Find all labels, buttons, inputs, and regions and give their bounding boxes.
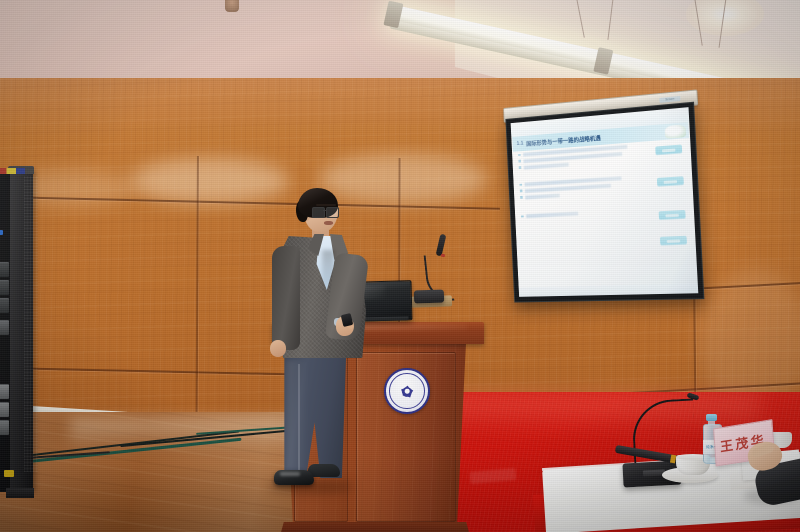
projection-screen[interactable]: Screen 1.1 国际形势与一带一路的战略机遇 xyxy=(503,90,708,309)
rack-unit xyxy=(0,402,9,417)
slide-bullet-group xyxy=(522,234,635,239)
slide-bullet-group xyxy=(519,176,633,203)
trousers-highlight xyxy=(286,360,308,470)
slide-action-pill[interactable] xyxy=(657,176,684,187)
av-equipment-rack[interactable] xyxy=(0,170,34,500)
slide-body xyxy=(512,140,698,297)
shoe-gloss xyxy=(280,472,300,476)
slide-pill-label xyxy=(662,148,675,152)
slide-pill-label xyxy=(664,180,677,184)
rack-base xyxy=(6,488,34,498)
bullet-marker-icon xyxy=(518,154,520,157)
bullet-marker-icon xyxy=(519,167,521,170)
eyeglasses-icon xyxy=(312,207,338,216)
slide-action-pill[interactable] xyxy=(660,236,687,246)
eyeglass-bridge xyxy=(323,210,326,211)
slide-surface[interactable]: 1.1 国际形势与一带一路的战略机遇 xyxy=(511,107,699,297)
presenter-eyebrow xyxy=(316,204,336,206)
trousers-crease xyxy=(298,364,300,470)
speaker-grille-mesh xyxy=(24,176,38,472)
rack-status-led-icon xyxy=(0,230,3,235)
bullet-marker-icon xyxy=(518,160,520,163)
bullet-marker-icon xyxy=(519,183,521,186)
microphone-base xyxy=(414,289,444,303)
presenter-mouth xyxy=(324,221,333,225)
conference-hall-photo: Screen 1.1 国际形势与一带一路的战略机遇 xyxy=(0,0,800,532)
rack-unit xyxy=(0,420,9,435)
emblem-center xyxy=(404,388,411,395)
bullet-marker-icon xyxy=(520,196,522,199)
podium-base xyxy=(280,522,470,532)
cloud-illustration-icon xyxy=(665,124,687,139)
slide-title-text: 国际形势与一带一路的战略机遇 xyxy=(526,133,601,148)
bottle-cap xyxy=(706,414,717,421)
slide-action-pill[interactable] xyxy=(659,210,686,220)
slide-bullet-row xyxy=(521,209,634,218)
gooseneck-microphone[interactable] xyxy=(418,238,474,296)
rack-unit xyxy=(0,298,9,313)
screen-brand-label: Screen xyxy=(659,96,680,103)
slide-bullet-text xyxy=(526,212,578,218)
bullet-marker-icon xyxy=(521,215,523,218)
rack-unit xyxy=(0,280,9,295)
slide-bullet-group xyxy=(521,209,634,221)
rack-unit xyxy=(0,320,9,335)
presenter-hand-left xyxy=(270,340,286,357)
slide-bullet-text xyxy=(525,194,560,199)
rack-cable-connector xyxy=(4,470,14,477)
eyeglass-lens-left xyxy=(312,207,325,218)
rack-unit xyxy=(0,262,9,277)
rack-color-strip xyxy=(0,168,34,174)
wall-light-reflection xyxy=(130,158,290,204)
slide-title-number: 1.1 xyxy=(517,141,524,147)
rack-speaker-column xyxy=(10,170,33,492)
eyeglass-lens-right xyxy=(326,207,339,218)
sprinkler-head-icon xyxy=(225,0,239,12)
slide-pill-label xyxy=(667,239,680,242)
screen-frame: 1.1 国际形势与一带一路的战略机遇 xyxy=(505,102,704,303)
rack-unit xyxy=(0,384,9,399)
slide-pill-label xyxy=(665,213,678,217)
slide-action-pill[interactable] xyxy=(655,145,682,156)
presenter-arm-left xyxy=(272,246,300,350)
bullet-marker-icon xyxy=(520,190,522,193)
institution-crest-emblem: · · · · · · · · · xyxy=(384,368,430,414)
slide-bullet-text xyxy=(523,163,568,170)
